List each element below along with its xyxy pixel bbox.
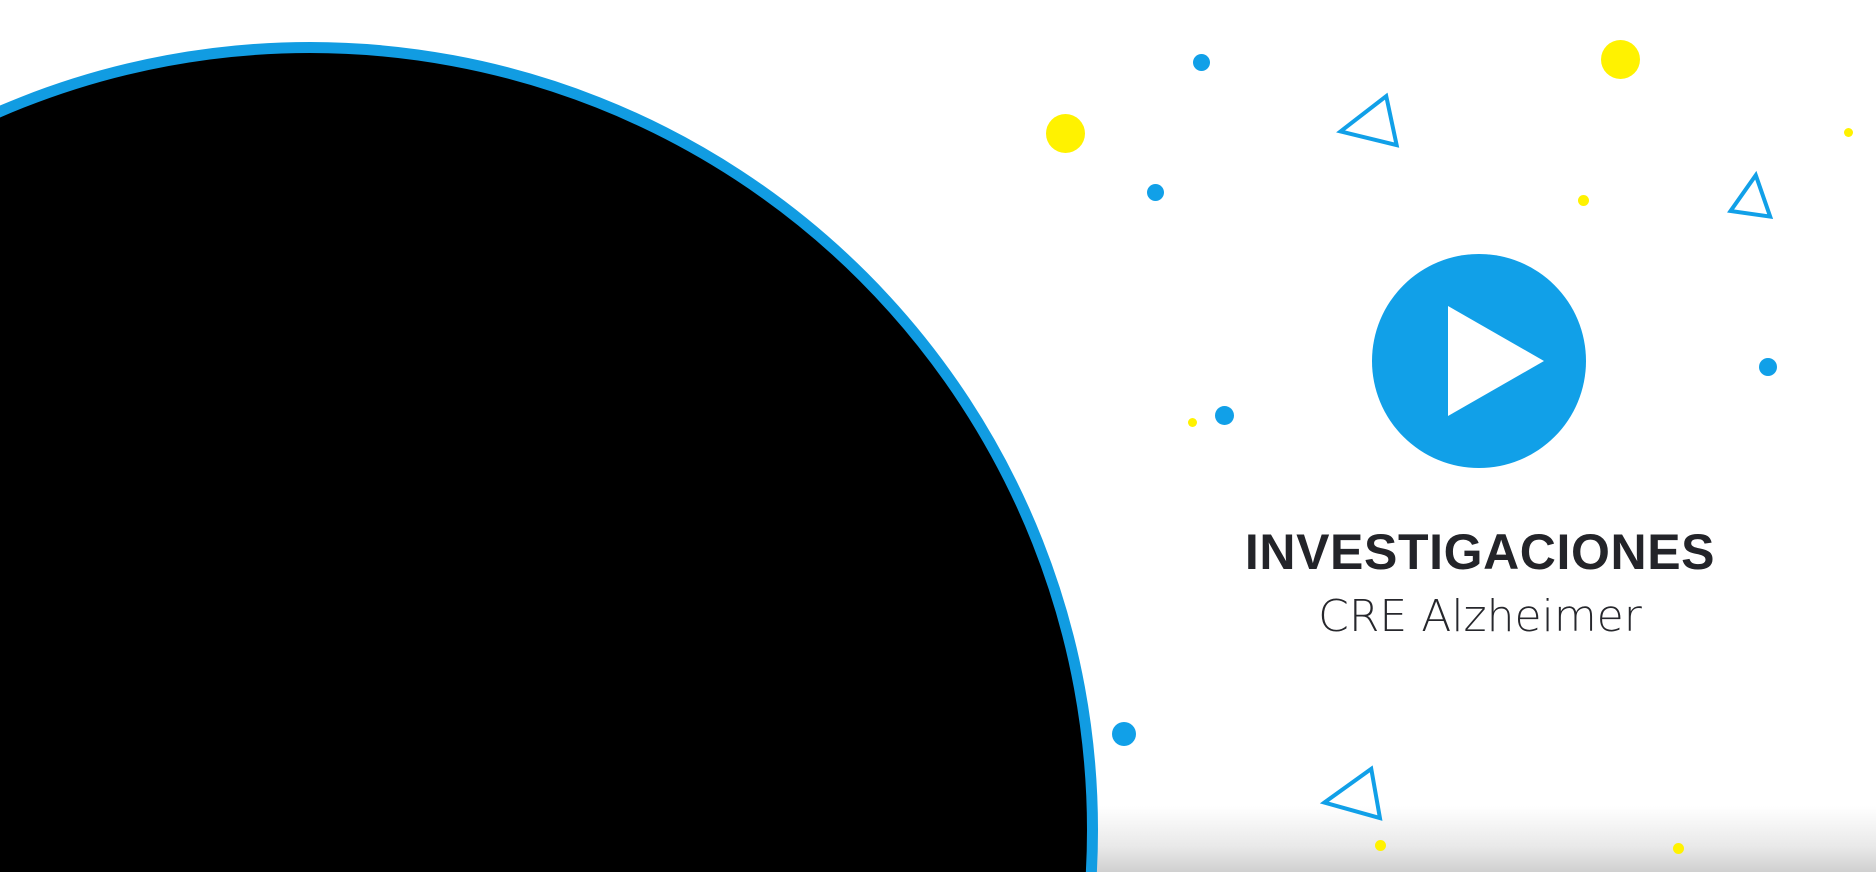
yellow-dot-1: [1046, 114, 1085, 153]
yellow-dot-4: [1844, 128, 1853, 137]
blue-dot-1: [1193, 54, 1210, 71]
page-title: INVESTIGACIONES: [980, 525, 1876, 579]
page-subtitle: CRE Alzheimer: [980, 593, 1876, 641]
triangle-left-top-icon: [1333, 93, 1399, 159]
blue-dot-2: [1147, 184, 1164, 201]
video-caption: INVESTIGACIONES CRE Alzheimer: [980, 525, 1876, 641]
yellow-dot-7: [1673, 843, 1684, 854]
yellow-dot-5: [1188, 418, 1197, 427]
yellow-dot-2: [1601, 40, 1640, 79]
blue-dot-5: [1112, 722, 1136, 746]
yellow-dot-6: [1375, 840, 1386, 851]
triangle-left-bottom-icon: [1318, 766, 1383, 831]
play-triangle-icon: [1448, 306, 1544, 416]
play-button[interactable]: [1372, 254, 1586, 468]
video-slide: INVESTIGACIONES CRE Alzheimer: [0, 0, 1876, 872]
triangle-up-right-icon: [1727, 169, 1779, 221]
blue-dot-4: [1215, 406, 1234, 425]
yellow-dot-3: [1578, 195, 1589, 206]
blue-dot-3: [1759, 358, 1777, 376]
video-thumbnail[interactable]: [0, 42, 1098, 872]
